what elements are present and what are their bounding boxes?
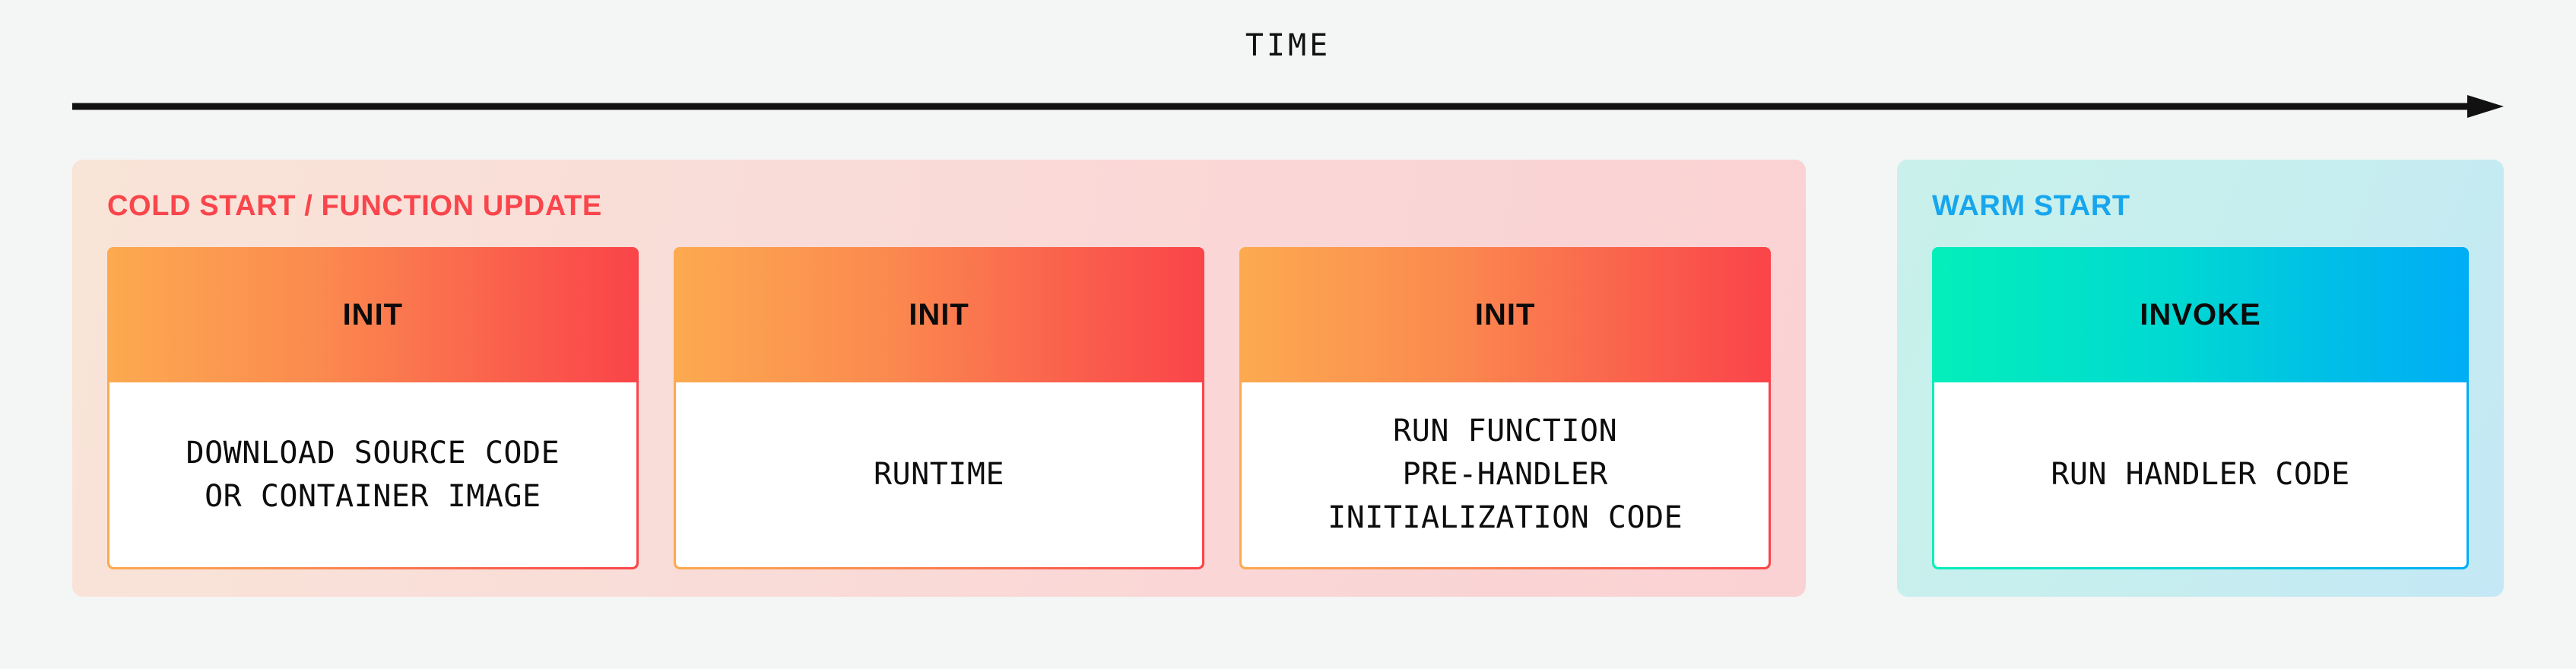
panel-warm-start: WARM START INVOKE RUN HANDLER CODE <box>1897 160 2504 597</box>
card-border: INIT DOWNLOAD SOURCE CODE OR CONTAINER I… <box>107 247 639 569</box>
card-body: RUN HANDLER CODE <box>1934 382 2467 567</box>
stage-card-init-prehandler[interactable]: INIT RUN FUNCTION PRE-HANDLER INITIALIZA… <box>1239 247 1771 569</box>
stage-card-invoke[interactable]: INVOKE RUN HANDLER CODE <box>1932 247 2469 569</box>
time-axis-label: TIME <box>0 30 2576 61</box>
panel-cold-start-title: COLD START / FUNCTION UPDATE <box>107 192 602 220</box>
card-body-label: DOWNLOAD SOURCE CODE OR CONTAINER IMAGE <box>186 432 560 518</box>
stage-card-init-runtime[interactable]: INIT RUNTIME <box>674 247 1205 569</box>
card-body-label: RUN HANDLER CODE <box>2051 453 2349 496</box>
card-body: DOWNLOAD SOURCE CODE OR CONTAINER IMAGE <box>109 382 636 567</box>
card-header-band: INVOKE <box>1932 247 2469 382</box>
panel-warm-start-title: WARM START <box>1932 192 2130 220</box>
card-body-label: RUNTIME <box>874 453 1004 496</box>
card-body-label: RUN FUNCTION PRE-HANDLER INITIALIZATION … <box>1328 410 1683 539</box>
card-border: INVOKE RUN HANDLER CODE <box>1932 247 2469 569</box>
card-border: INIT RUN FUNCTION PRE-HANDLER INITIALIZA… <box>1239 247 1771 569</box>
card-header-band: INIT <box>674 247 1205 382</box>
warm-start-card-row: INVOKE RUN HANDLER CODE <box>1932 247 2469 569</box>
card-header-label: INIT <box>1475 300 1536 330</box>
time-axis-arrow <box>72 95 2504 118</box>
stage-card-init-download[interactable]: INIT DOWNLOAD SOURCE CODE OR CONTAINER I… <box>107 247 639 569</box>
card-body: RUN FUNCTION PRE-HANDLER INITIALIZATION … <box>1242 382 1769 567</box>
card-header-label: INIT <box>909 300 969 330</box>
diagram-canvas: TIME COLD START / FUNCTION UPDATE INIT D… <box>0 0 2576 669</box>
arrow-right-icon <box>72 95 2504 118</box>
panel-cold-start: COLD START / FUNCTION UPDATE INIT DOWNLO… <box>72 160 1806 597</box>
card-header-band: INIT <box>107 247 639 382</box>
card-body: RUNTIME <box>676 382 1203 567</box>
cold-start-card-row: INIT DOWNLOAD SOURCE CODE OR CONTAINER I… <box>107 247 1771 569</box>
card-border: INIT RUNTIME <box>674 247 1205 569</box>
card-header-label: INVOKE <box>2140 300 2260 330</box>
card-header-band: INIT <box>1239 247 1771 382</box>
card-header-label: INIT <box>343 300 404 330</box>
